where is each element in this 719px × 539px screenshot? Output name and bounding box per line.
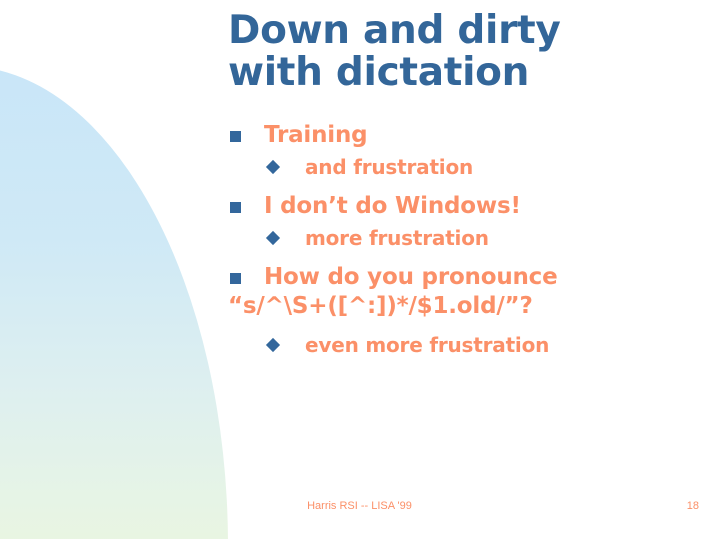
bullet-item-pronounce: How do you pronounce: [228, 264, 700, 291]
bullet-label: I don’t do Windows!: [264, 193, 521, 219]
sub-bullet-item-even-more-frustration: even more frustration: [228, 333, 700, 357]
sub-bullet-item-and-frustration: and frustration: [228, 155, 700, 179]
bullet-label-line-2: “s/^\S+([^:])*/$1.old/”?: [228, 293, 533, 319]
footer-page-number: 18: [687, 500, 699, 512]
presentation-slide: Down and dirty with dictation Training a…: [0, 0, 719, 539]
bullet-label: Training: [264, 122, 367, 148]
footer-attribution: Harris RSI -- LISA '99: [0, 500, 719, 512]
bullet-item-training: Training: [228, 122, 700, 149]
diamond-bullet-icon: [266, 160, 280, 174]
diamond-bullet-icon: [266, 337, 280, 351]
spacer: [228, 323, 700, 327]
decorative-gradient-ellipse: [0, 66, 228, 539]
slide-title: Down and dirty with dictation: [228, 10, 698, 94]
square-bullet-icon: [230, 273, 241, 284]
sub-bullet-label: more frustration: [305, 226, 489, 250]
sub-bullet-item-more-frustration: more frustration: [228, 226, 700, 250]
square-bullet-icon: [230, 202, 241, 213]
slide-body: Training and frustration I don’t do Wind…: [228, 122, 700, 371]
slide-title-line-2: with dictation: [228, 52, 698, 94]
bullet-item-pronounce-regex: “s/^\S+([^:])*/$1.old/”?: [228, 293, 700, 320]
slide-footer: Harris RSI -- LISA '99 18: [0, 500, 719, 520]
slide-title-line-1: Down and dirty: [228, 10, 698, 52]
bullet-item-windows: I don’t do Windows!: [228, 193, 700, 220]
sub-bullet-label: and frustration: [305, 155, 473, 179]
diamond-bullet-icon: [266, 231, 280, 245]
sub-bullet-label: even more frustration: [305, 333, 549, 357]
square-bullet-icon: [230, 131, 241, 142]
bullet-label-line-1: How do you pronounce: [264, 264, 558, 290]
